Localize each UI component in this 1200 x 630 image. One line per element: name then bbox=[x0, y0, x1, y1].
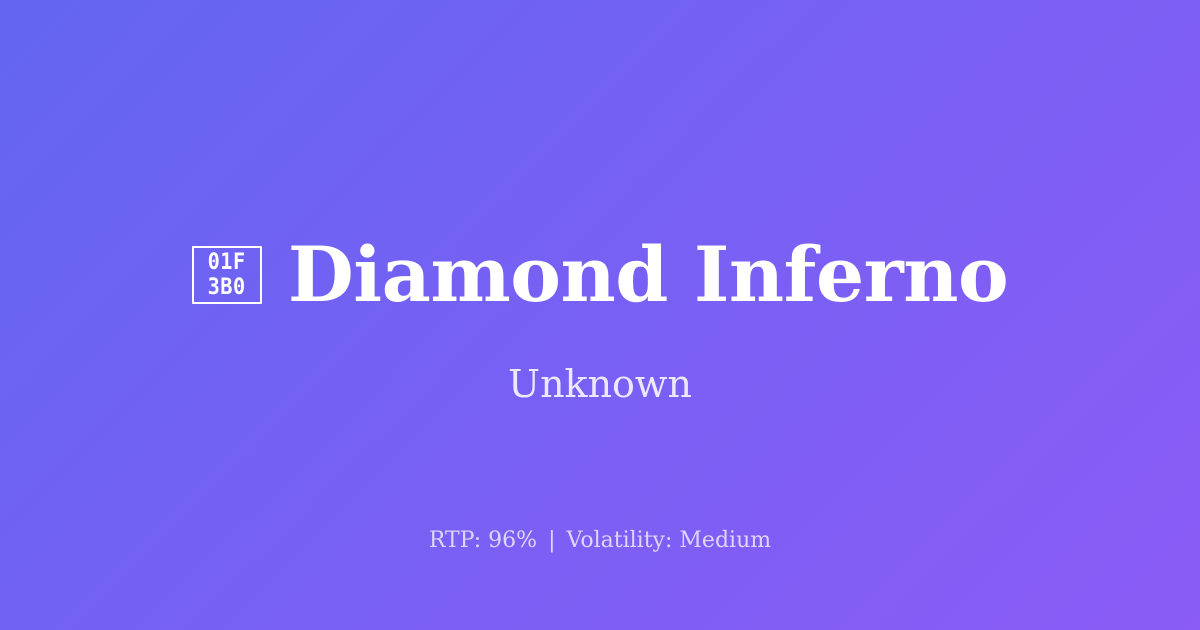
rtp-value: 96% bbox=[488, 528, 537, 553]
game-og-card: 01F 3B0 Diamond Inferno Unknown RTP: 96%… bbox=[0, 0, 1200, 630]
tofu-codepoint-high: 01F bbox=[208, 250, 246, 275]
game-meta-line: RTP: 96% | Volatility: Medium bbox=[0, 526, 1200, 557]
volatility-label: Volatility: bbox=[567, 528, 673, 553]
title-row: 01F 3B0 Diamond Inferno bbox=[0, 232, 1200, 318]
meta-separator: | bbox=[544, 528, 559, 553]
rtp-label: RTP: bbox=[429, 528, 481, 553]
game-provider: Unknown bbox=[0, 362, 1200, 408]
slot-machine-icon: 01F 3B0 bbox=[192, 246, 262, 304]
game-title: Diamond Inferno bbox=[288, 237, 1008, 313]
tofu-codepoint-low: 3B0 bbox=[208, 275, 246, 300]
volatility-value: Medium bbox=[679, 528, 771, 553]
